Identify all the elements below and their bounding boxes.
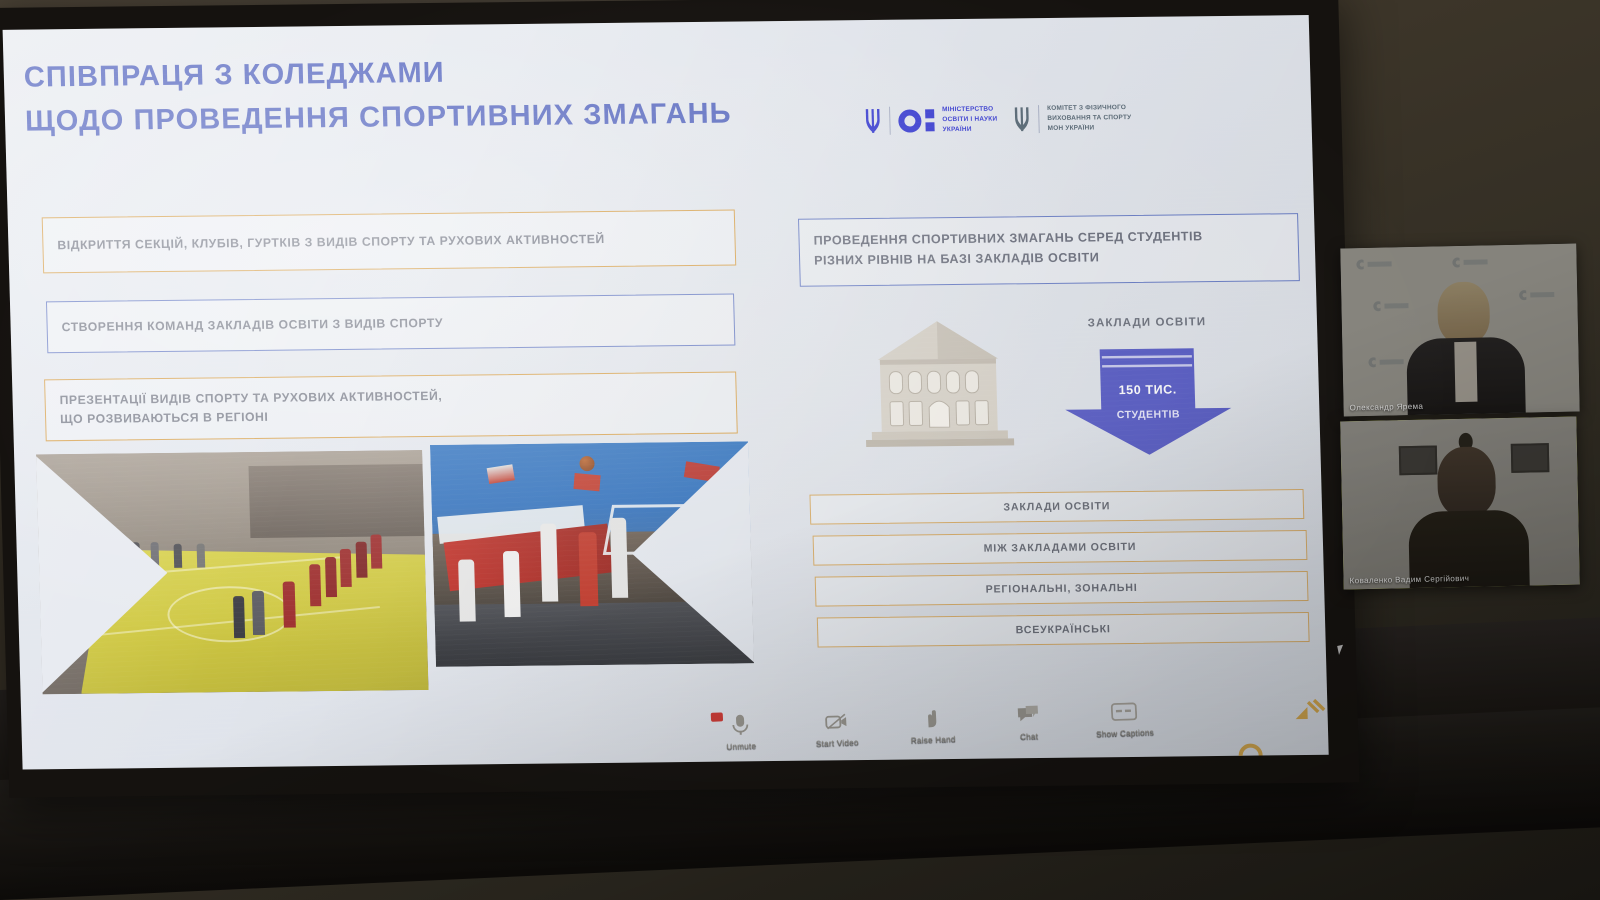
wall-picture-icon [1399, 445, 1438, 475]
participant-head [1437, 446, 1496, 517]
ministry-logo-line3: УКРАЇНИ [943, 125, 998, 136]
o-colon-icon [898, 109, 935, 132]
participant-tile-2[interactable]: Коваленко Вадим Сергійович [1340, 417, 1579, 590]
participant-name-1: Олександр Ярема [1350, 402, 1424, 413]
ministry-logo: МІНІСТЕРСТВО ОСВІТИ І НАУКИ УКРАЇНИ [864, 105, 998, 137]
committee-logo: КОМІТЕТ З ФІЗИЧНОГО ВИХОВАННЯ ТА СПОРТУ … [1013, 103, 1132, 135]
control-raise-hand[interactable]: Raise Hand [888, 702, 976, 746]
participant-shirt [1454, 342, 1477, 402]
backdrop-logo-icon [1367, 355, 1411, 369]
ukraine-trident-icon [1013, 104, 1031, 134]
slide-box-create-teams: СТВОРЕННЯ КОМАНД ЗАКЛАДІВ ОСВІТИ З ВИДІВ… [46, 294, 735, 354]
slide-box-presentations-line2: ЩО РОЗВИВАЮТЬСЯ В РЕГІОНІ [60, 410, 269, 426]
control-unmute[interactable]: Unmute [697, 708, 785, 752]
backdrop-logo-icon [1354, 257, 1398, 271]
slide-box-presentations-text: ПРЕЗЕНТАЦІЇ ВИДІВ СПОРТУ ТА РУХОВИХ АКТИ… [59, 387, 443, 429]
control-raise-hand-label: Raise Hand [890, 734, 976, 746]
diagram-arrow-unit: СТУДЕНТІВ [1053, 408, 1243, 422]
logo-strip: МІНІСТЕРСТВО ОСВІТИ І НАУКИ УКРАЇНИ КОМІ… [864, 103, 1132, 136]
slide-title-line2: ЩОДО ПРОВЕДЕННЯ СПОРТИВНИХ ЗМАГАНЬ [24, 91, 825, 144]
mouse-cursor [1337, 644, 1348, 655]
slide-box-competitions-line2: РІЗНИХ РІВНІВ НА БАЗІ ЗАКЛАДІВ ОСВІТИ [814, 251, 1100, 268]
backdrop-logo-icon [1371, 299, 1415, 313]
level-bar-regional-label: РЕГІОНАЛЬНІ, ЗОНАЛЬНІ [985, 582, 1137, 596]
logo-divider [1038, 105, 1040, 133]
ministry-logo-line2: ОСВІТИ І НАУКИ [942, 115, 997, 126]
backdrop-logo-icon [1517, 288, 1561, 302]
slide-box-open-sections-label: ВІДКРИТТЯ СЕКЦІЙ, КЛУБІВ, ГУРТКІВ З ВИДІ… [57, 230, 605, 255]
slide-photo-basketball [430, 441, 754, 667]
diagram-arrow-value: 150 ТИС. [1053, 382, 1243, 398]
participant-head [1437, 281, 1490, 344]
down-arrow-shape [1052, 346, 1245, 458]
control-chat[interactable]: Chat [984, 699, 1072, 743]
committee-logo-line2: ВИХОВАННЯ ТА СПОРТУ [1047, 113, 1131, 124]
control-unmute-label: Unmute [698, 740, 784, 752]
level-bar-national: ВСЕУКРАЇНСЬКІ [817, 612, 1310, 648]
diagram-arrow-heading: ЗАКЛАДИ ОСВІТИ [1067, 316, 1227, 330]
room-photo-scene: СПІВПРАЦЯ З КОЛЕДЖАМИ ЩОДО ПРОВЕДЕННЯ СП… [0, 0, 1600, 900]
wall-picture-icon [1511, 443, 1550, 473]
slide-box-open-sections: ВІДКРИТТЯ СЕКЦІЙ, КЛУБІВ, ГУРТКІВ З ВИДІ… [42, 210, 737, 274]
slide-box-presentations-line1: ПРЕЗЕНТАЦІЇ ВИДІВ СПОРТУ ТА РУХОВИХ АКТИ… [59, 389, 442, 407]
classical-building-icon [857, 314, 1021, 450]
slide-title: СПІВПРАЦЯ З КОЛЕДЖАМИ ЩОДО ПРОВЕДЕННЯ СП… [23, 47, 825, 144]
level-bar-between-institutions-label: МІЖ ЗАКЛАДАМИ ОСВІТИ [983, 541, 1136, 555]
control-start-video-label: Start Video [794, 737, 880, 749]
shared-presentation-slide[interactable]: СПІВПРАЦЯ З КОЛЕДЖАМИ ЩОДО ПРОВЕДЕННЯ СП… [3, 15, 1329, 770]
mute-badge [711, 712, 724, 721]
level-bar-institutions: ЗАКЛАДИ ОСВІТИ [809, 489, 1304, 525]
level-bar-between-institutions: МІЖ ЗАКЛАДАМИ ОСВІТИ [813, 530, 1308, 566]
level-bar-institutions-label: ЗАКЛАДИ ОСВІТИ [1003, 500, 1110, 513]
video-conference-window: СПІВПРАЦЯ З КОЛЕДЖАМИ ЩОДО ПРОВЕДЕННЯ СП… [0, 0, 1359, 798]
participant-tile-1[interactable]: Олександр Ярема [1340, 244, 1579, 417]
committee-logo-text: КОМІТЕТ З ФІЗИЧНОГО ВИХОВАННЯ ТА СПОРТУ … [1047, 103, 1132, 134]
participant-tile-strip: Олександр Ярема Коваленко Вадим Сергійов… [1342, 246, 1592, 592]
microphone-muted-icon [697, 708, 784, 741]
closed-captions-icon [1080, 695, 1167, 728]
circle-outline-icon [1238, 743, 1263, 767]
ukraine-trident-icon [864, 106, 882, 136]
chat-bubble-icon [984, 699, 1071, 732]
control-start-video[interactable]: Start Video [793, 705, 881, 749]
camera-off-icon [793, 705, 880, 738]
backdrop-logo-icon [1450, 255, 1494, 269]
control-show-captions-label: Show Captions [1082, 727, 1168, 739]
double-chevron-icon [1293, 697, 1328, 731]
level-bar-regional: РЕГІОНАЛЬНІ, ЗОНАЛЬНІ [815, 571, 1309, 607]
committee-logo-line3: МОН УКРАЇНИ [1047, 123, 1131, 134]
slide-photo-gym [36, 450, 429, 694]
slide-box-competitions: ПРОВЕДЕННЯ СПОРТИВНИХ ЗМАГАНЬ СЕРЕД СТУД… [798, 213, 1300, 287]
slide-box-create-teams-label: СТВОРЕННЯ КОМАНД ЗАКЛАДІВ ОСВІТИ З ВИДІВ… [61, 313, 443, 336]
slide-box-competitions-line1: ПРОВЕДЕННЯ СПОРТИВНИХ ЗМАГАНЬ СЕРЕД СТУД… [813, 229, 1202, 247]
ministry-logo-line1: МІНІСТЕРСТВО [942, 105, 997, 116]
ministry-logo-text: МІНІСТЕРСТВО ОСВІТИ І НАУКИ УКРАЇНИ [942, 105, 998, 136]
slide-title-line1: СПІВПРАЦЯ З КОЛЕДЖАМИ [23, 57, 445, 94]
logo-divider [889, 107, 891, 135]
level-bar-national-label: ВСЕУКРАЇНСЬКІ [1015, 623, 1110, 636]
control-chat-label: Chat [986, 731, 1072, 743]
control-show-captions[interactable]: Show Captions [1080, 695, 1168, 739]
raise-hand-icon [888, 702, 975, 735]
slide-box-presentations: ПРЕЗЕНТАЦІЇ ВИДІВ СПОРТУ ТА РУХОВИХ АКТИ… [44, 371, 738, 441]
